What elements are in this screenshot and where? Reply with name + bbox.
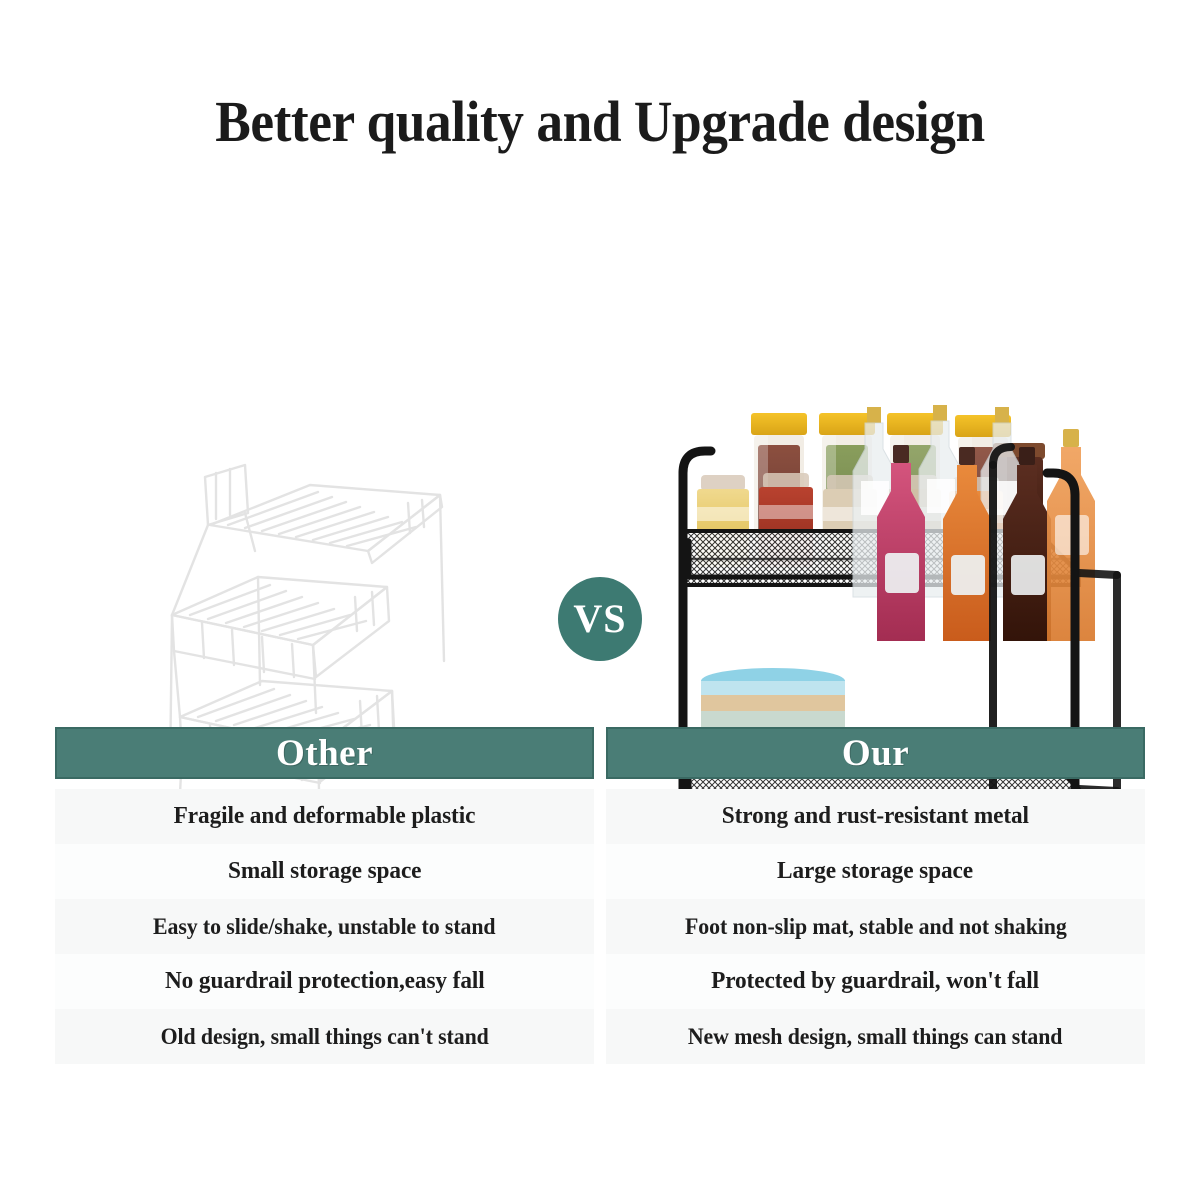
column-header-our-label: Our	[842, 732, 909, 775]
row-text: No guardrail protection,easy fall	[165, 968, 485, 995]
infographic-page: Better quality and Upgrade design	[0, 0, 1200, 1200]
table-row: Strong and rust-resistant metal	[606, 789, 1145, 844]
vs-label: VS	[573, 599, 626, 639]
row-text: Foot non-slip mat, stable and not shakin…	[685, 914, 1067, 940]
row-text: Easy to slide/shake, unstable to stand	[153, 914, 495, 940]
table-row: Foot non-slip mat, stable and not shakin…	[606, 899, 1145, 954]
column-other-rows: Fragile and deformable plastic Small sto…	[55, 789, 594, 1064]
table-row: Small storage space	[55, 844, 594, 899]
table-row: Easy to slide/shake, unstable to stand	[55, 899, 594, 954]
column-header-our: Our	[606, 727, 1145, 779]
column-our-rows: Strong and rust-resistant metal Large st…	[606, 789, 1145, 1064]
row-text: Large storage space	[777, 858, 973, 885]
table-row: Large storage space	[606, 844, 1145, 899]
row-text: Protected by guardrail, won't fall	[712, 968, 1040, 995]
row-text: Small storage space	[228, 858, 421, 885]
vs-badge: VS	[558, 577, 642, 661]
column-other: Other Fragile and deformable plastic Sma…	[55, 727, 594, 1064]
column-header-other: Other	[55, 727, 594, 779]
column-our: Our Strong and rust-resistant metal Larg…	[606, 727, 1145, 1064]
comparison-table: Other Fragile and deformable plastic Sma…	[55, 727, 1145, 1064]
table-row: New mesh design, small things can stand	[606, 1009, 1145, 1064]
table-row: No guardrail protection,easy fall	[55, 954, 594, 1009]
column-header-other-label: Other	[276, 732, 373, 775]
table-row: Old design, small things can't stand	[55, 1009, 594, 1064]
page-title: Better quality and Upgrade design	[48, 88, 1152, 155]
row-text: New mesh design, small things can stand	[688, 1024, 1062, 1050]
row-text: Strong and rust-resistant metal	[722, 803, 1029, 830]
row-text: Fragile and deformable plastic	[174, 803, 476, 830]
table-row: Protected by guardrail, won't fall	[606, 954, 1145, 1009]
table-row: Fragile and deformable plastic	[55, 789, 594, 844]
hero-comparison: VS	[0, 190, 1200, 690]
row-text: Old design, small things can't stand	[160, 1024, 488, 1050]
